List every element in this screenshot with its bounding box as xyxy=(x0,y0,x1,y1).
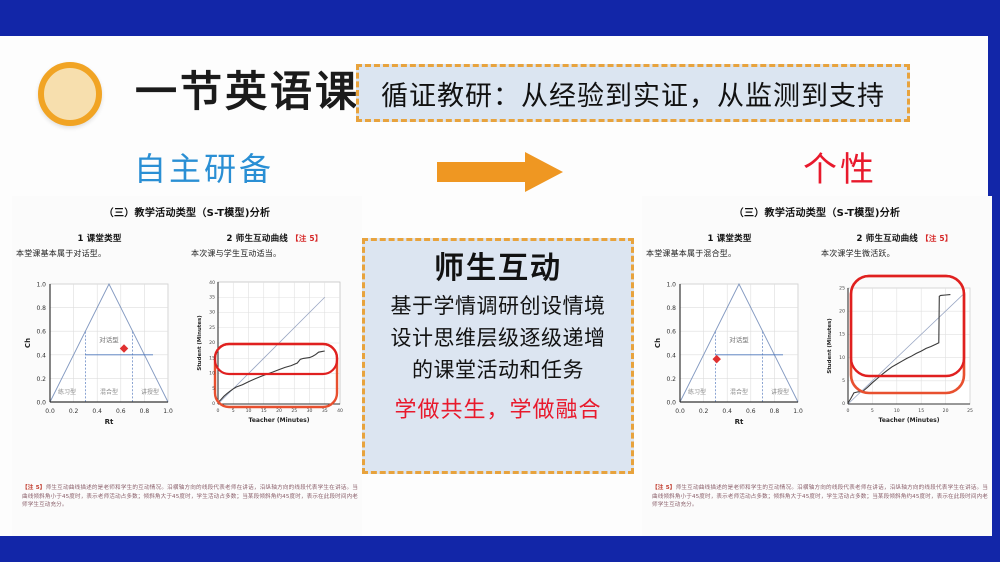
center-callout-box: 师生互动 基于学情调研创设情境 设计思维层级逐级递增 的课堂活动和任务 学做共生… xyxy=(362,238,634,474)
svg-text:0.8: 0.8 xyxy=(140,408,150,415)
doc-section-class-type: 1 课堂类型 本堂课基本属于混合型。 xyxy=(642,232,817,259)
svg-text:0.6: 0.6 xyxy=(746,408,756,415)
svg-text:练习型: 练习型 xyxy=(688,388,706,396)
svg-text:对话型: 对话型 xyxy=(99,335,119,344)
svg-text:0.6: 0.6 xyxy=(116,408,126,415)
svg-text:10: 10 xyxy=(839,355,845,361)
svg-text:对话型: 对话型 xyxy=(729,335,749,344)
page-title: 一节英语课 xyxy=(135,62,360,122)
svg-text:0: 0 xyxy=(217,408,220,414)
svg-text:20: 20 xyxy=(839,308,845,314)
svg-text:10: 10 xyxy=(246,408,252,414)
svg-text:0.0: 0.0 xyxy=(666,400,676,407)
svg-text:25: 25 xyxy=(967,408,973,414)
svg-text:40: 40 xyxy=(209,280,215,286)
band-gap xyxy=(0,36,1000,40)
document-panel-left: （三）教学活动类型（S-T模型)分析 1 课堂类型 本堂课基本属于对话型。 2 … xyxy=(12,196,362,536)
svg-text:30: 30 xyxy=(209,310,215,316)
footnote-marker: 【注 5】 xyxy=(921,234,952,243)
svg-text:5: 5 xyxy=(842,378,845,384)
svg-text:5: 5 xyxy=(871,408,874,414)
svg-text:35: 35 xyxy=(209,294,215,300)
svg-text:15: 15 xyxy=(918,408,924,414)
svg-text:5: 5 xyxy=(212,386,215,392)
svg-text:1.0: 1.0 xyxy=(793,408,803,415)
svg-text:0.8: 0.8 xyxy=(36,305,46,312)
doc-footnote: 【注 5】师生互动曲线描述的是老师和学生的互动情况。沿横轴方向的线段代表老师在讲… xyxy=(22,484,358,510)
svg-text:0.4: 0.4 xyxy=(722,408,732,415)
svg-text:混合型: 混合型 xyxy=(100,388,118,396)
section-title: 1 课堂类型 xyxy=(12,232,187,244)
svg-text:15: 15 xyxy=(261,408,267,414)
subtitle-text: 循证教研：从经验到实证，从监测到支持 xyxy=(381,74,885,113)
subtitle-callout-box: 循证教研：从经验到实证，从监测到支持 xyxy=(356,64,910,122)
svg-text:Rt: Rt xyxy=(105,418,114,426)
document-panel-right: （三）教学活动类型（S-T模型)分析 1 课堂类型 本堂课基本属于混合型。 2 … xyxy=(642,196,992,536)
svg-text:Rt: Rt xyxy=(735,418,744,426)
footnote-text: 师生互动曲线描述的是老师和学生的互动情况。沿横轴方向的线段代表老师在讲话，沿纵轴… xyxy=(652,485,988,508)
circle-badge-icon xyxy=(38,62,102,126)
section-desc: 本次课学生微活跃。 xyxy=(821,248,992,259)
svg-text:Ch: Ch xyxy=(654,338,662,348)
slide-canvas: 一节英语课 循证教研：从经验到实证，从监测到支持 自主研备 个性 （三）教学活动… xyxy=(0,0,1000,562)
doc-heading: （三）教学活动类型（S-T模型)分析 xyxy=(12,204,362,219)
section-desc: 本堂课基本属于对话型。 xyxy=(16,248,187,259)
svg-text:Student (Minutes): Student (Minutes) xyxy=(827,318,833,373)
callout-line-3: 的课堂活动和任务 xyxy=(412,355,584,387)
svg-text:0.8: 0.8 xyxy=(770,408,780,415)
svg-text:0.0: 0.0 xyxy=(45,408,55,415)
svg-text:10: 10 xyxy=(894,408,900,414)
svg-text:Student (Minutes): Student (Minutes) xyxy=(197,315,203,370)
svg-text:混合型: 混合型 xyxy=(730,388,748,396)
label-personality: 个性 xyxy=(803,142,877,191)
callout-line-1: 基于学情调研创设情境 xyxy=(391,291,606,323)
svg-text:0.0: 0.0 xyxy=(675,408,685,415)
svg-text:1.0: 1.0 xyxy=(163,408,173,415)
footnote-text: 师生互动曲线描述的是老师和学生的互动情况。沿横轴方向的线段代表老师在讲话，沿纵轴… xyxy=(22,485,358,508)
svg-text:Teacher (Minutes): Teacher (Minutes) xyxy=(249,417,310,424)
label-self-study: 自主研备 xyxy=(134,144,274,190)
svg-text:15: 15 xyxy=(209,355,215,361)
svg-text:Teacher (Minutes): Teacher (Minutes) xyxy=(879,417,940,424)
section-desc: 本次课与学生互动适当。 xyxy=(191,248,362,259)
svg-text:练习型: 练习型 xyxy=(58,388,76,396)
svg-text:讲授型: 讲授型 xyxy=(771,388,789,396)
svg-text:35: 35 xyxy=(322,408,328,414)
doc-section-class-type: 1 课堂类型 本堂课基本属于对话型。 xyxy=(12,232,187,259)
svg-text:0.4: 0.4 xyxy=(92,408,102,415)
svg-text:0.2: 0.2 xyxy=(666,376,676,383)
svg-text:0: 0 xyxy=(212,401,215,407)
svg-text:20: 20 xyxy=(276,408,282,414)
svg-text:0: 0 xyxy=(842,401,845,407)
top-blue-band xyxy=(0,0,1000,36)
section-title-text: 2 师生互动曲线 xyxy=(227,234,288,244)
svg-text:0.2: 0.2 xyxy=(699,408,709,415)
svg-text:15: 15 xyxy=(839,332,845,338)
doc-section-interaction-curve: 2 师生互动曲线 【注 5】 本次课学生微活跃。 xyxy=(817,232,992,259)
callout-title: 师生互动 xyxy=(434,249,562,289)
section-title: 2 师生互动曲线 【注 5】 xyxy=(187,232,362,244)
svg-text:20: 20 xyxy=(209,340,215,346)
svg-text:讲授型: 讲授型 xyxy=(141,388,159,396)
chart-interaction-curve-right: 0 5 10 15 20 25 0 5 10 15 20 25 Teacher … xyxy=(820,274,988,449)
svg-text:0.0: 0.0 xyxy=(36,400,46,407)
footnote-tag: 【注 5】 xyxy=(22,485,46,491)
svg-text:0.4: 0.4 xyxy=(666,352,676,359)
callout-line-2: 设计思维层级逐级递增 xyxy=(391,323,606,355)
doc-heading: （三）教学活动类型（S-T模型)分析 xyxy=(642,204,992,219)
svg-text:0.2: 0.2 xyxy=(69,408,79,415)
svg-text:20: 20 xyxy=(943,408,949,414)
svg-text:0.4: 0.4 xyxy=(36,352,46,359)
chart-interaction-curve-left: 0 5 10 15 20 25 30 35 40 0 5 10 15 20 25… xyxy=(190,274,358,444)
svg-text:1.0: 1.0 xyxy=(666,282,676,289)
svg-text:30: 30 xyxy=(307,408,313,414)
doc-footnote: 【注 5】师生互动曲线描述的是老师和学生的互动情况。沿横轴方向的线段代表老师在讲… xyxy=(652,484,988,510)
section-title: 1 课堂类型 xyxy=(642,232,817,244)
chart-st-model-right: 对话型 练习型 混合型 讲授型 0.0 0.2 0.4 0.6 0.8 1.0 … xyxy=(648,274,813,444)
svg-text:5: 5 xyxy=(232,408,235,414)
section-desc: 本堂课基本属于混合型。 xyxy=(646,248,817,259)
svg-text:0.6: 0.6 xyxy=(666,329,676,336)
right-arrow-icon xyxy=(437,152,563,192)
section-title-text: 2 师生互动曲线 xyxy=(857,234,918,244)
section-title: 2 师生互动曲线 【注 5】 xyxy=(817,232,992,244)
svg-text:25: 25 xyxy=(291,408,297,414)
svg-text:Ch: Ch xyxy=(24,338,32,348)
svg-text:0: 0 xyxy=(847,408,850,414)
bottom-blue-band xyxy=(0,536,1000,562)
svg-text:25: 25 xyxy=(839,286,845,292)
callout-highlight: 学做共生，学做融合 xyxy=(394,393,601,427)
svg-text:0.8: 0.8 xyxy=(666,305,676,312)
footnote-tag: 【注 5】 xyxy=(652,485,676,491)
svg-text:0.6: 0.6 xyxy=(36,329,46,336)
svg-text:10: 10 xyxy=(209,371,215,377)
svg-text:0.2: 0.2 xyxy=(36,376,46,383)
svg-text:25: 25 xyxy=(209,325,215,331)
svg-text:40: 40 xyxy=(337,408,343,414)
doc-section-interaction-curve: 2 师生互动曲线 【注 5】 本次课与学生互动适当。 xyxy=(187,232,362,259)
svg-text:1.0: 1.0 xyxy=(36,282,46,289)
footnote-marker: 【注 5】 xyxy=(291,234,322,243)
chart-st-model-left: 对话型 练习型 混合型 讲授型 0.0 0.2 0.4 0.6 0.8 1.0 … xyxy=(18,274,183,444)
